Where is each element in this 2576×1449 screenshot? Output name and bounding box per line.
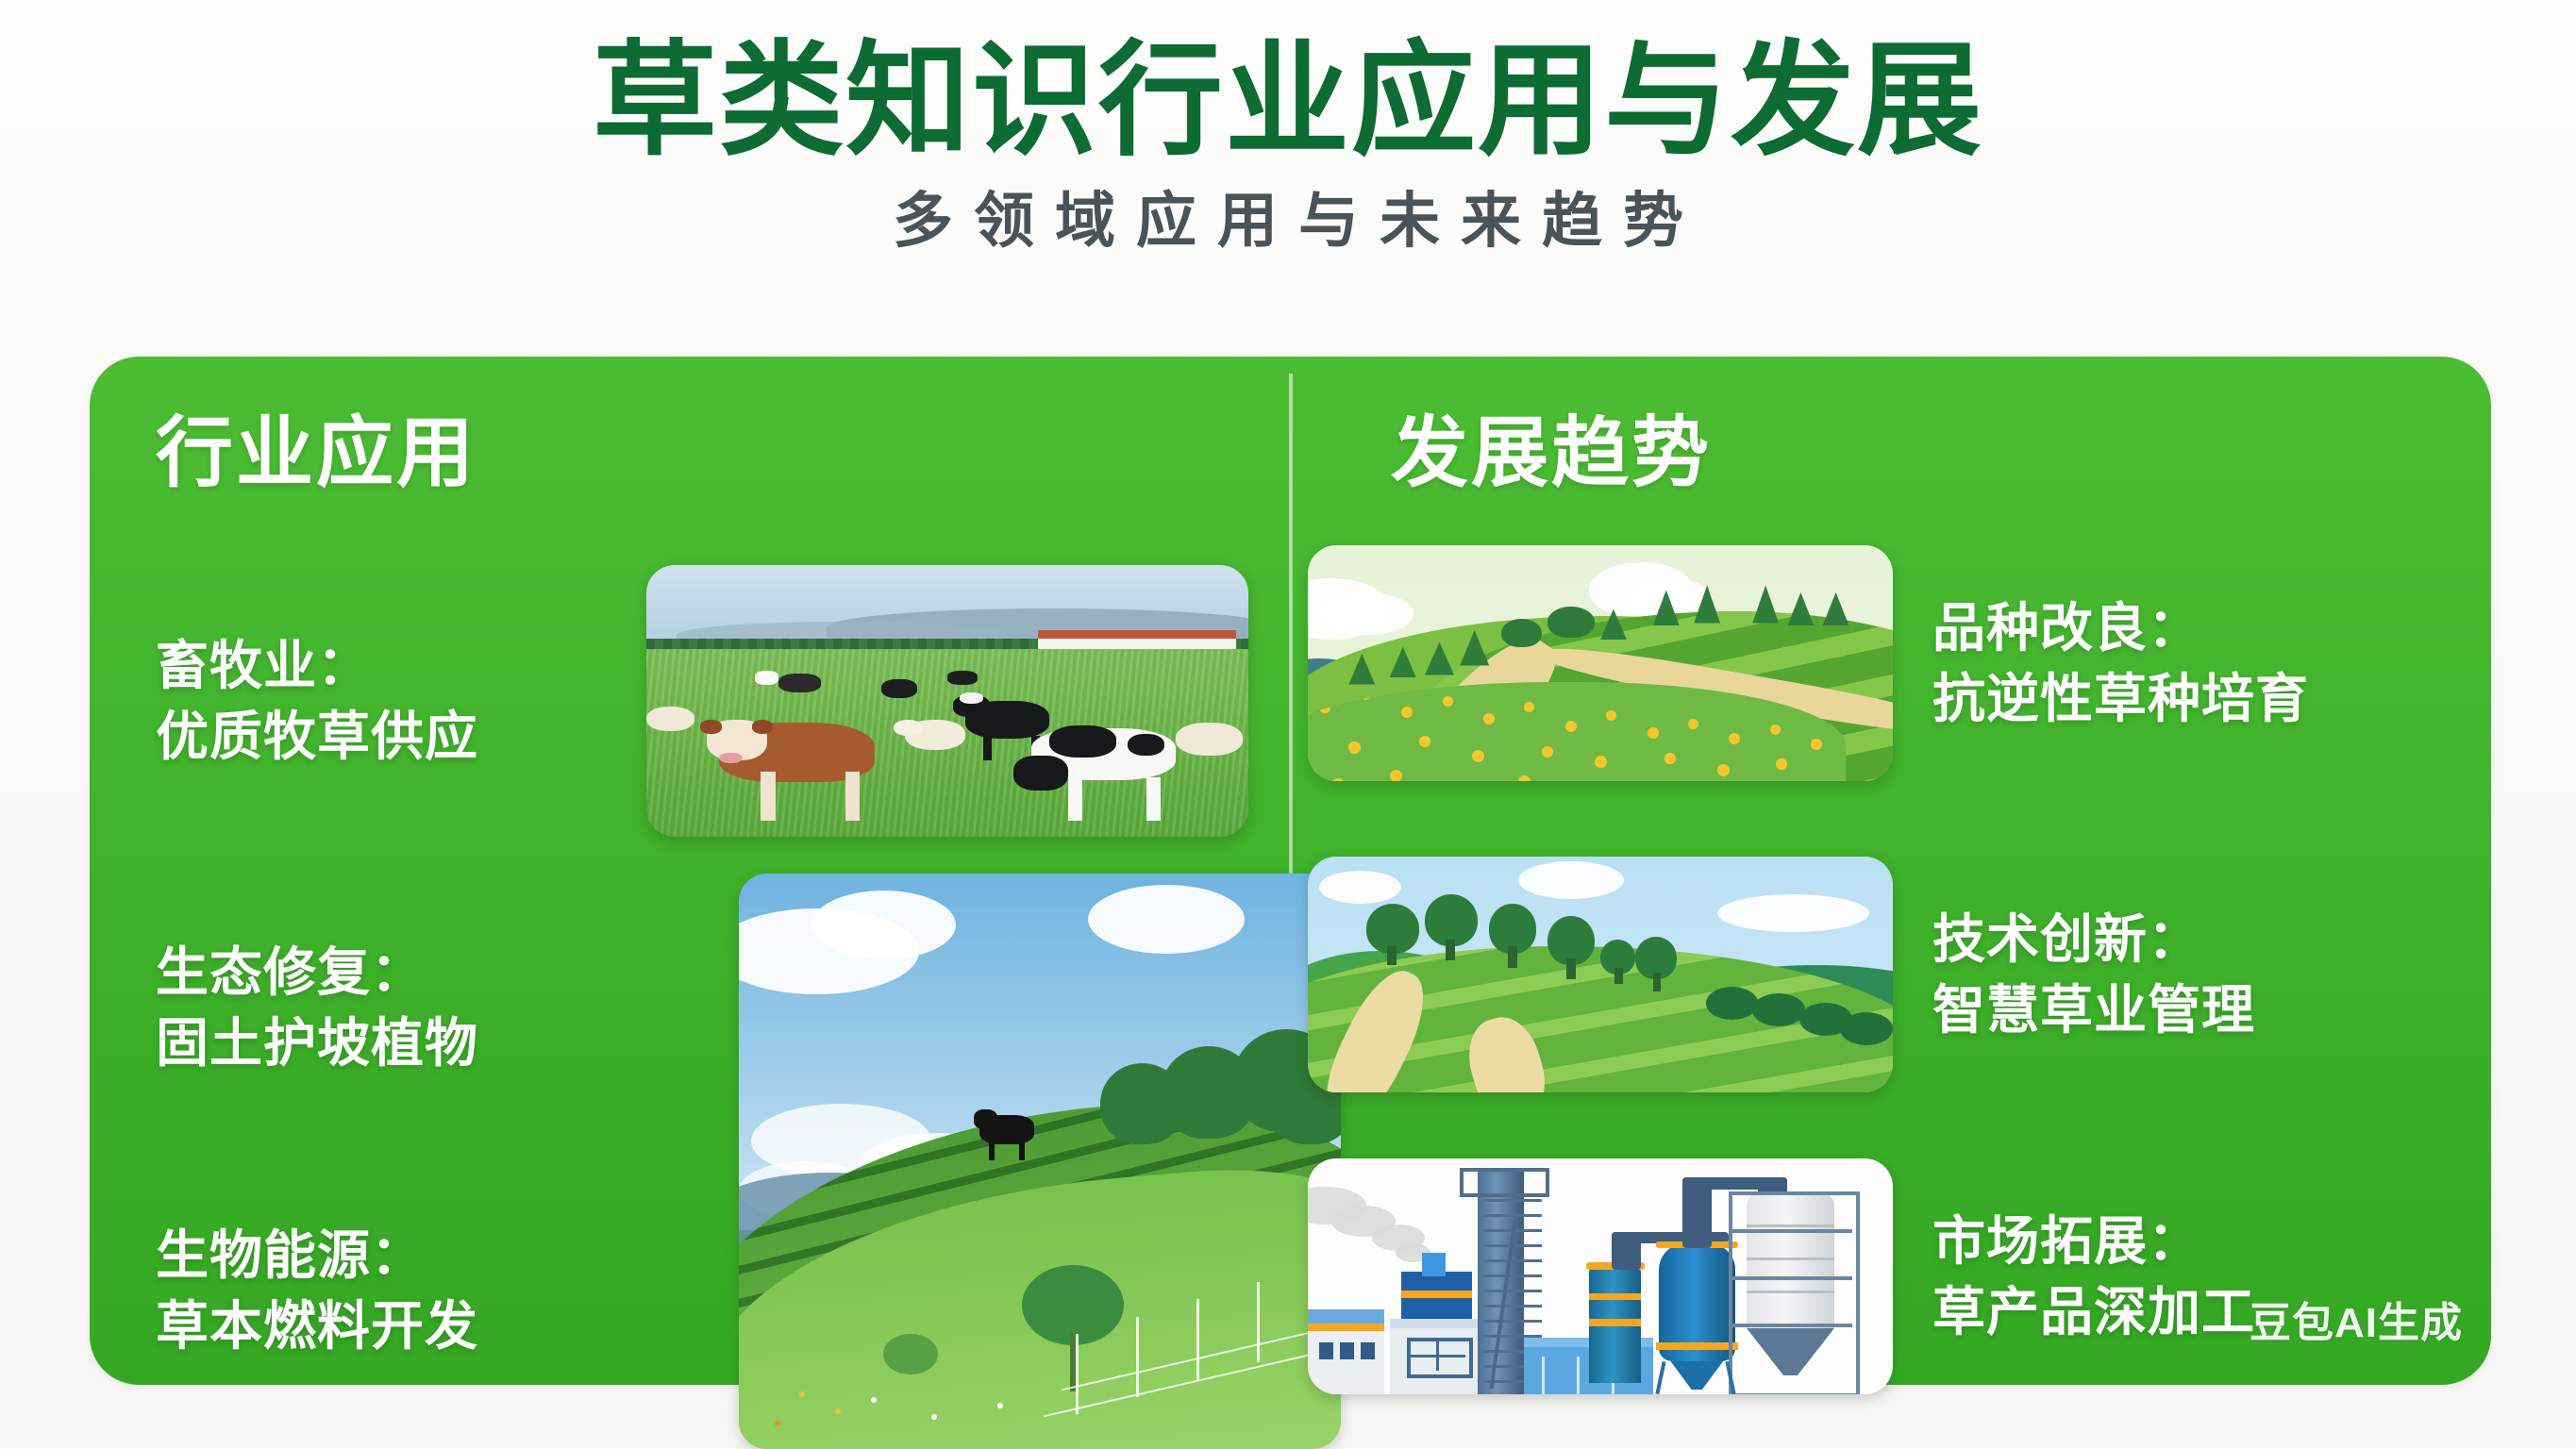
page-subtitle: 多领域应用与未来趋势 [0,176,2576,260]
list-item[interactable]: 市场拓展： 草产品深加工 [1308,1158,2461,1394]
right-item-2-detail: 智慧草业管理 [1932,974,2461,1045]
list-item[interactable]: 品种改良： 抗逆性草种培育 [1308,545,2461,781]
watermark: 豆包AI生成 [2250,1289,2463,1349]
infographic-page: 草类知识行业应用与发展 多领域应用与未来趋势 行业应用 畜牧业： 优质牧草供应 [0,0,2576,1448]
right-item-3-label: 市场拓展： [1932,1206,2461,1276]
left-column-title: 行业应用 [156,415,477,492]
pasture-with-cows-and-sheep-image [646,565,1248,837]
right-item-2-text: 技术创新： 智慧草业管理 [1932,904,2461,1045]
industrial-processing-plant-image [1308,1158,1893,1394]
rolling-hills-with-trees-and-path-image [1308,857,1893,1092]
left-item-3-detail: 草本燃料开发 [156,1291,646,1361]
left-item-1-label: 畜牧业： [156,630,646,701]
left-item-2-label: 生态修复： [156,937,646,1008]
column-development-trends: 发展趋势 [1289,357,2488,1385]
list-item[interactable]: 技术创新： 智慧草业管理 [1308,857,2461,1092]
right-item-1-detail: 抗逆性草种培育 [1932,663,2461,734]
content-board: 行业应用 畜牧业： 优质牧草供应 [90,357,2491,1385]
column-industry-applications: 行业应用 畜牧业： 优质牧草供应 [90,357,1289,1385]
left-item-1-detail: 优质牧草供应 [156,701,646,772]
list-item[interactable]: 畜牧业： 优质牧草供应 [156,559,1250,842]
left-item-3-text: 生物能源： 草本燃料开发 [156,1220,646,1361]
right-item-2-label: 技术创新： [1932,904,2461,974]
right-item-1-label: 品种改良： [1932,592,2461,663]
page-title: 草类知识行业应用与发展 [0,0,2576,176]
right-column-title: 发展趋势 [1391,415,1712,492]
left-item-3-label: 生物能源： [156,1220,646,1291]
green-fields-with-yellow-flowers-image [1308,545,1893,781]
header: 草类知识行业应用与发展 多领域应用与未来趋势 [0,0,2576,260]
terraced-green-hillside-with-cow-image [739,874,1341,1449]
left-item-2-text: 生态修复： 固土护坡植物 [156,937,646,1078]
right-item-1-text: 品种改良： 抗逆性草种培育 [1932,592,2461,734]
left-item-1-text: 畜牧业： 优质牧草供应 [156,630,646,772]
left-item-2-detail: 固土护坡植物 [156,1008,646,1078]
